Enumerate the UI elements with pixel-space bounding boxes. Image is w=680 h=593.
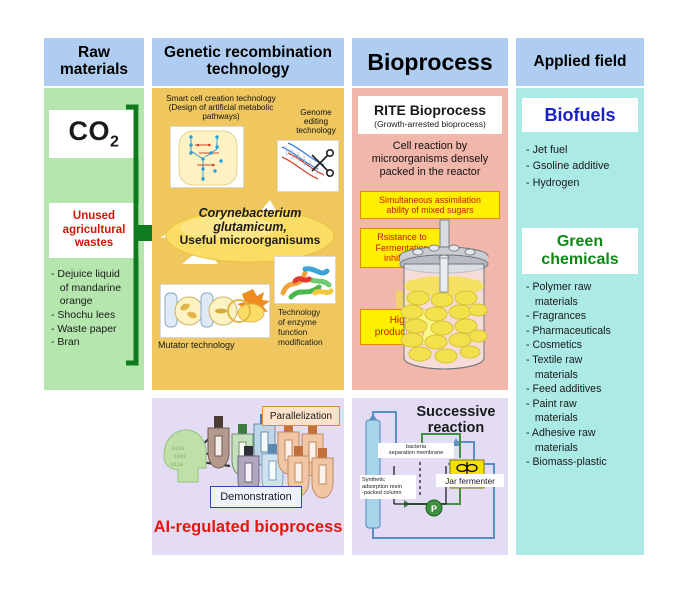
column-body-applied-field: Biofuels - Jet fuel - Gsoline additive -… <box>516 88 644 555</box>
list-item: - Pharmaceuticals <box>526 324 644 339</box>
organism-name: Corynebacterium glutamicum, Useful micro… <box>162 206 338 247</box>
list-item: - Jet fuel <box>526 142 644 158</box>
ai-bioprocess-title: AI-regulated bioprocess <box>152 518 344 537</box>
panel-ai-regulated-bioprocess: 011010010110 <box>152 398 344 555</box>
svg-text:0110: 0110 <box>171 462 183 468</box>
green-chemicals-list: - Polymer raw materials - Fragrances - P… <box>526 280 644 470</box>
list-item: - Paint raw <box>526 397 644 412</box>
list-item: materials <box>526 441 644 456</box>
list-item: - Polymer raw <box>526 280 644 295</box>
organism-species: glutamicum, <box>162 220 338 234</box>
biofuels-box: Biofuels <box>522 98 638 132</box>
list-item: - Cosmetics <box>526 338 644 353</box>
column-body-bioprocess: RITE Bioprocess (Growth-arrested bioproc… <box>352 88 508 390</box>
enzyme-tech-caption: Technology of enzyme function modificati… <box>278 307 340 347</box>
jar-fermenter-label: Jar fermenter <box>436 474 504 487</box>
mutator-tech-caption: Mutator technology <box>158 340 278 350</box>
list-item: - Gsoline additive <box>526 158 644 174</box>
adsorption-column-label: Synthetic adsorption resin -packed colum… <box>360 475 416 499</box>
list-item: materials <box>526 295 644 310</box>
svg-text:0110: 0110 <box>172 446 184 452</box>
list-item: - Hydrogen <box>526 175 644 191</box>
svg-text:P: P <box>431 504 437 514</box>
column-header-bioprocess: Bioprocess <box>352 38 508 86</box>
column-header-raw-materials: Raw materials <box>44 38 144 86</box>
column-header-applied-field: Applied field <box>516 38 644 86</box>
rite-subtitle: (Growth-arrested bioprocess) <box>374 119 486 129</box>
list-item: materials <box>526 368 644 383</box>
panel-successive-reaction: Successive reaction <box>352 398 508 555</box>
column-header-genetic-recombination: Genetic recombination technology <box>152 38 344 86</box>
biofuels-title: Biofuels <box>544 105 615 126</box>
mutator-technology-image <box>160 284 270 338</box>
column-body-genetic-recombination: Smart cell creation technology (Design o… <box>152 88 344 390</box>
reactor-illustration <box>396 218 508 378</box>
metabolic-pathway-image <box>170 126 244 188</box>
list-item: - Adhesive raw <box>526 426 644 441</box>
unused-wastes-title: Unused agricultural wastes <box>63 210 126 251</box>
list-item: - Feed additives <box>526 382 644 397</box>
parallelization-label: Parallelization <box>262 406 340 426</box>
bacteria-separation-membrane-label: bacteria separation membrane <box>378 443 454 458</box>
callout-mixed-sugars: Simultaneous assimilation ability of mix… <box>360 191 500 219</box>
infographic-root: Raw materials CO2 Unused agricultural wa… <box>0 0 680 593</box>
organism-useful: Useful microorganisums <box>162 234 338 247</box>
rite-bioprocess-box: RITE Bioprocess (Growth-arrested bioproc… <box>358 96 502 134</box>
list-item: - Fragrances <box>526 309 644 324</box>
list-item: materials <box>526 411 644 426</box>
list-item: - Textile raw <box>526 353 644 368</box>
biofuels-list: - Jet fuel - Gsoline additive - Hydrogen <box>526 142 644 191</box>
smart-cell-caption: Smart cell creation technology (Design o… <box>156 94 286 122</box>
rite-description: Cell reaction by microorganisms densely … <box>356 140 504 180</box>
genome-editing-caption: Genome editing technology <box>290 108 342 136</box>
rite-title: RITE Bioprocess <box>374 102 486 118</box>
organism-genus: Corynebacterium <box>162 206 338 220</box>
green-chemicals-box: Green chemicals <box>522 228 638 274</box>
demonstration-label: Demonstration <box>210 486 302 508</box>
svg-text:1001: 1001 <box>174 454 186 460</box>
list-item: - Biomass-plastic <box>526 455 644 470</box>
co2-label: CO <box>69 116 111 146</box>
green-chemicals-title: Green chemicals <box>541 233 618 268</box>
enzyme-protein-image <box>274 256 336 304</box>
